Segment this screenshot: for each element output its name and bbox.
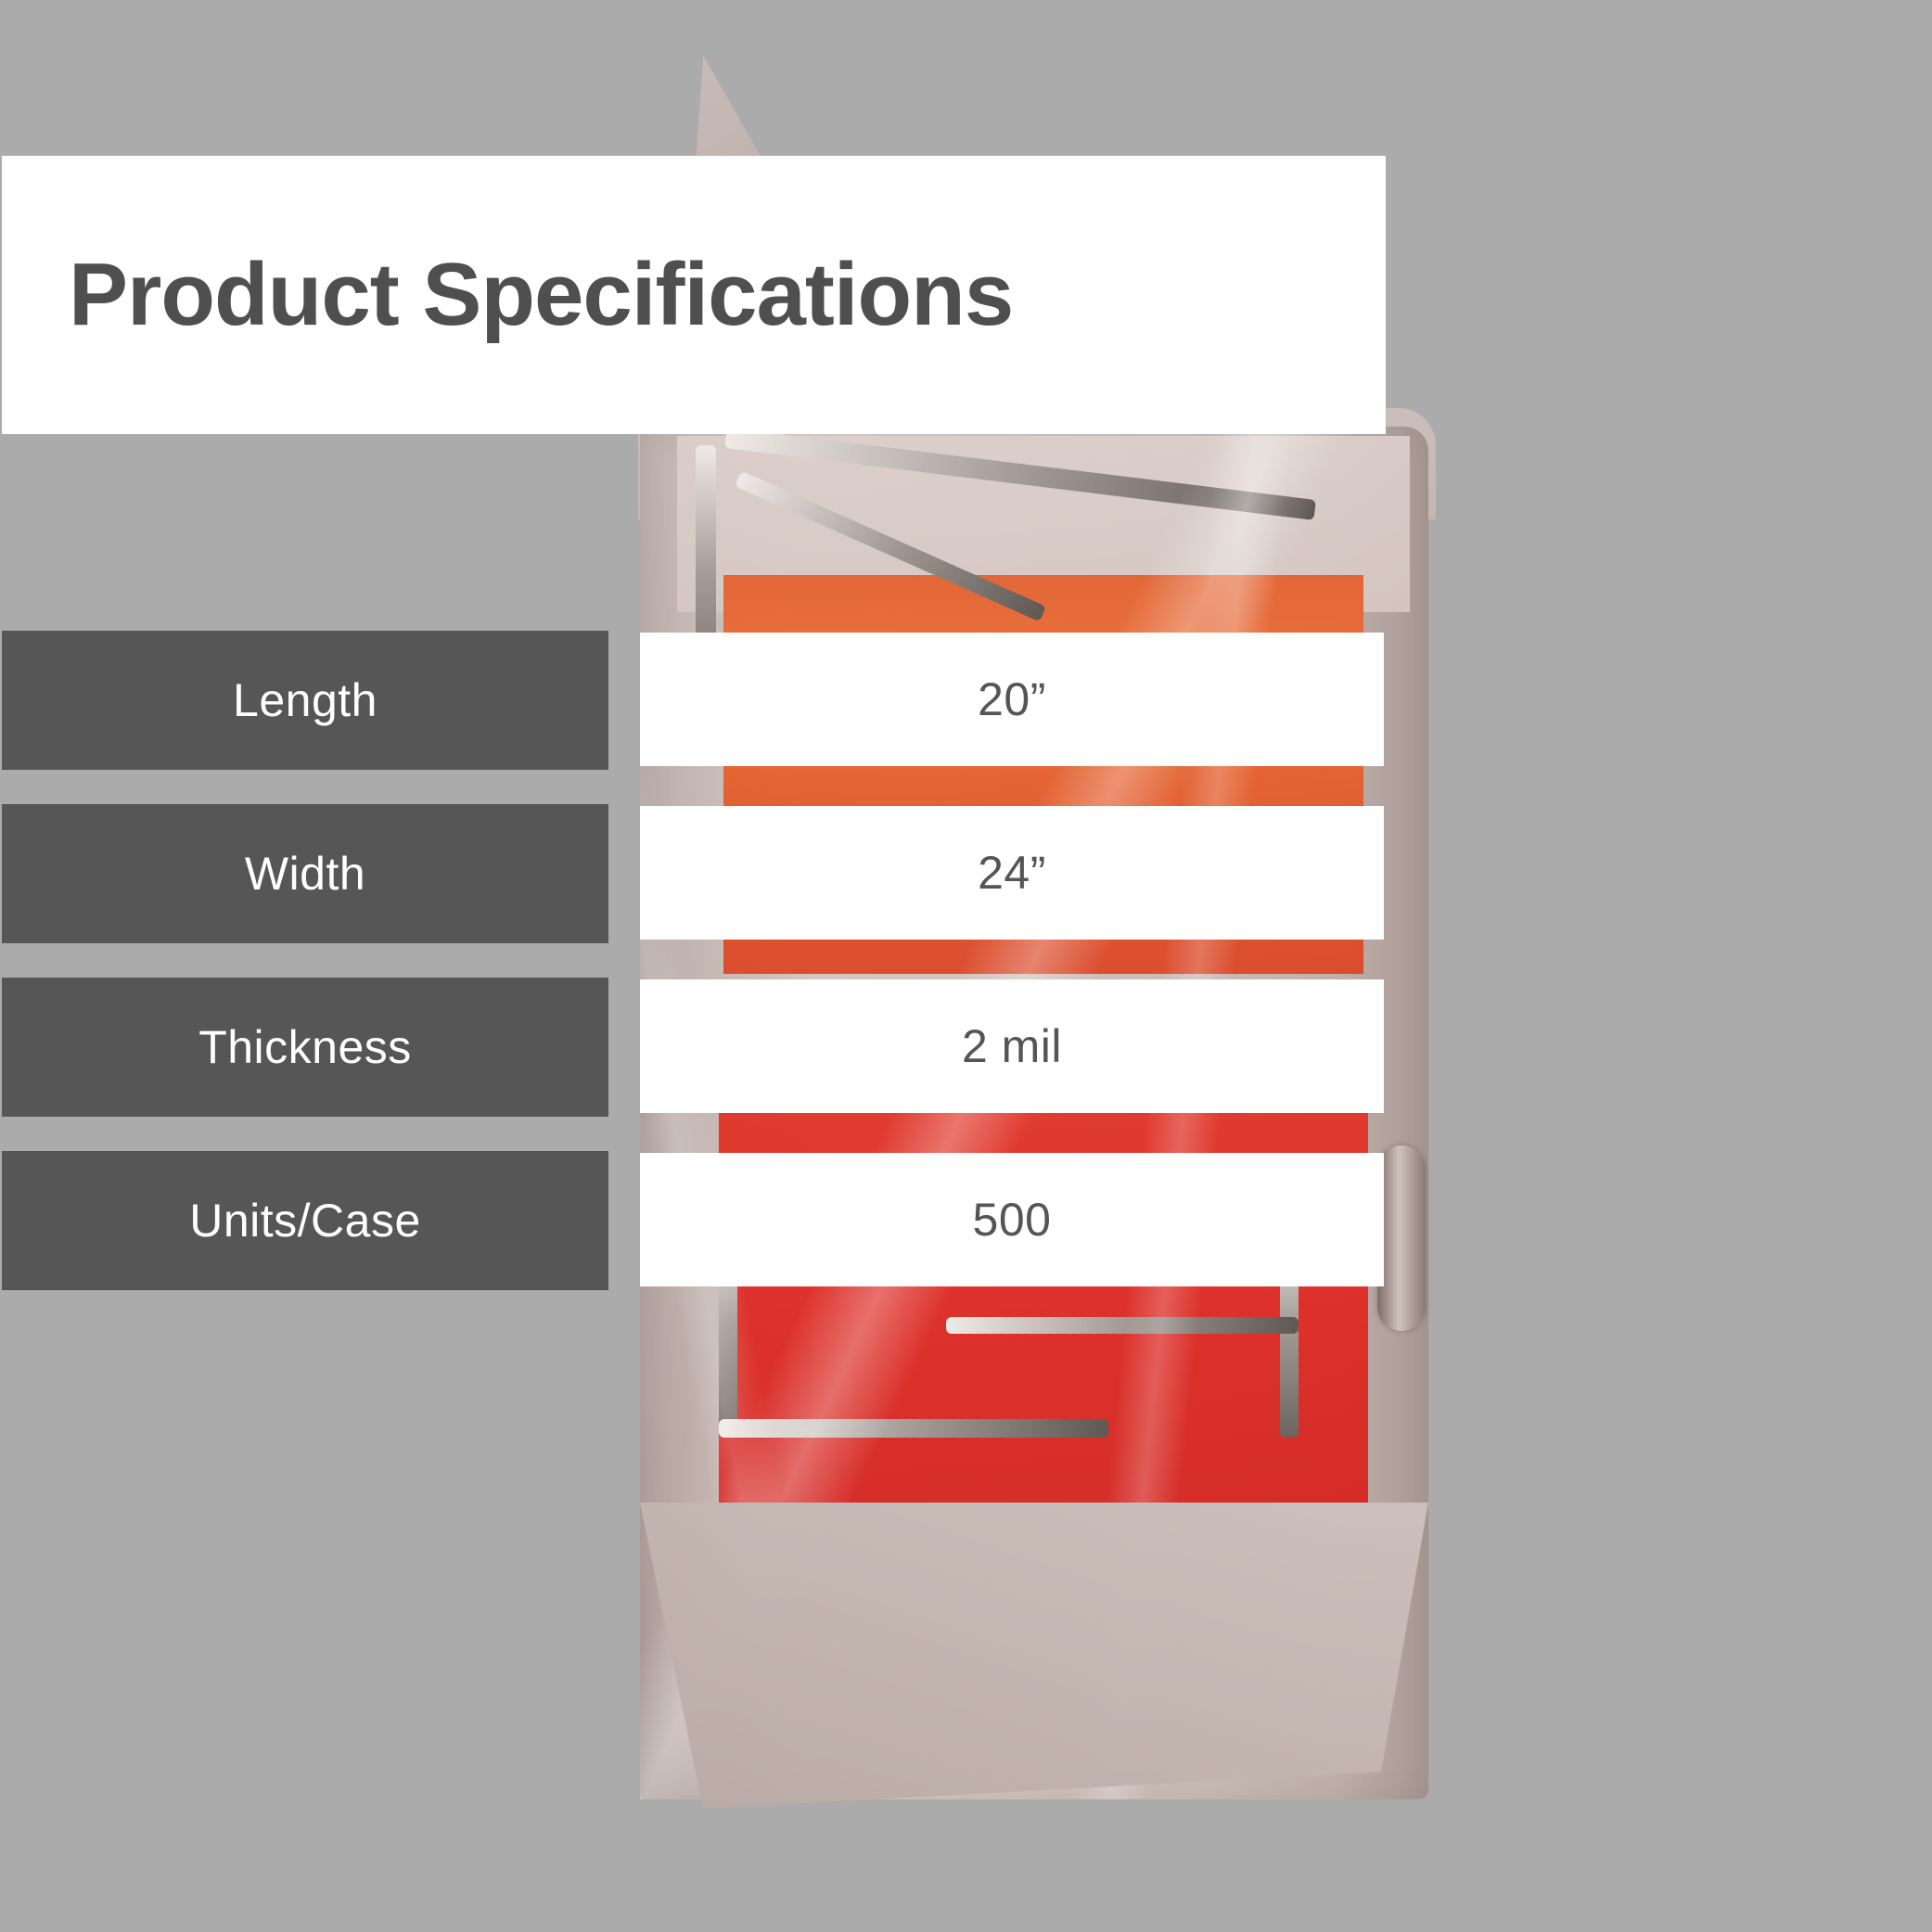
spec-value-length: 20” xyxy=(640,633,1384,766)
spec-label-text: Width xyxy=(245,847,365,901)
table-row: Thickness 2 mil xyxy=(0,978,1386,1117)
spec-label-text: Thickness xyxy=(198,1020,412,1074)
bag-bottom-shape xyxy=(640,1503,1428,1809)
spec-value-text: 24” xyxy=(978,846,1046,900)
specifications-table: Length 20” Width 24” Thickness 2 mil xyxy=(0,631,1386,1324)
spec-value-units-per-case: 500 xyxy=(640,1153,1384,1286)
spec-value-thickness: 2 mil xyxy=(640,979,1384,1113)
table-row: Length 20” xyxy=(0,631,1386,770)
spec-label-width: Width xyxy=(2,804,608,943)
product-spec-graphic: Product Specifications Length 20” Width … xyxy=(0,0,1932,1932)
table-row: Units/Case 500 xyxy=(0,1151,1386,1290)
spec-label-text: Length xyxy=(233,673,377,727)
spec-value-text: 2 mil xyxy=(962,1019,1062,1073)
spec-label-units-per-case: Units/Case xyxy=(2,1151,608,1290)
spec-label-length: Length xyxy=(2,631,608,770)
spec-label-text: Units/Case xyxy=(189,1194,421,1247)
title-card: Product Specifications xyxy=(2,156,1386,434)
table-row: Width 24” xyxy=(0,804,1386,943)
spec-value-text: 20” xyxy=(978,672,1046,726)
metal-rod-lower-shape xyxy=(719,1419,1108,1438)
page-title: Product Specifications xyxy=(69,244,1013,346)
spec-label-thickness: Thickness xyxy=(2,978,608,1117)
spec-value-text: 500 xyxy=(973,1193,1052,1247)
spec-value-width: 24” xyxy=(640,806,1384,940)
